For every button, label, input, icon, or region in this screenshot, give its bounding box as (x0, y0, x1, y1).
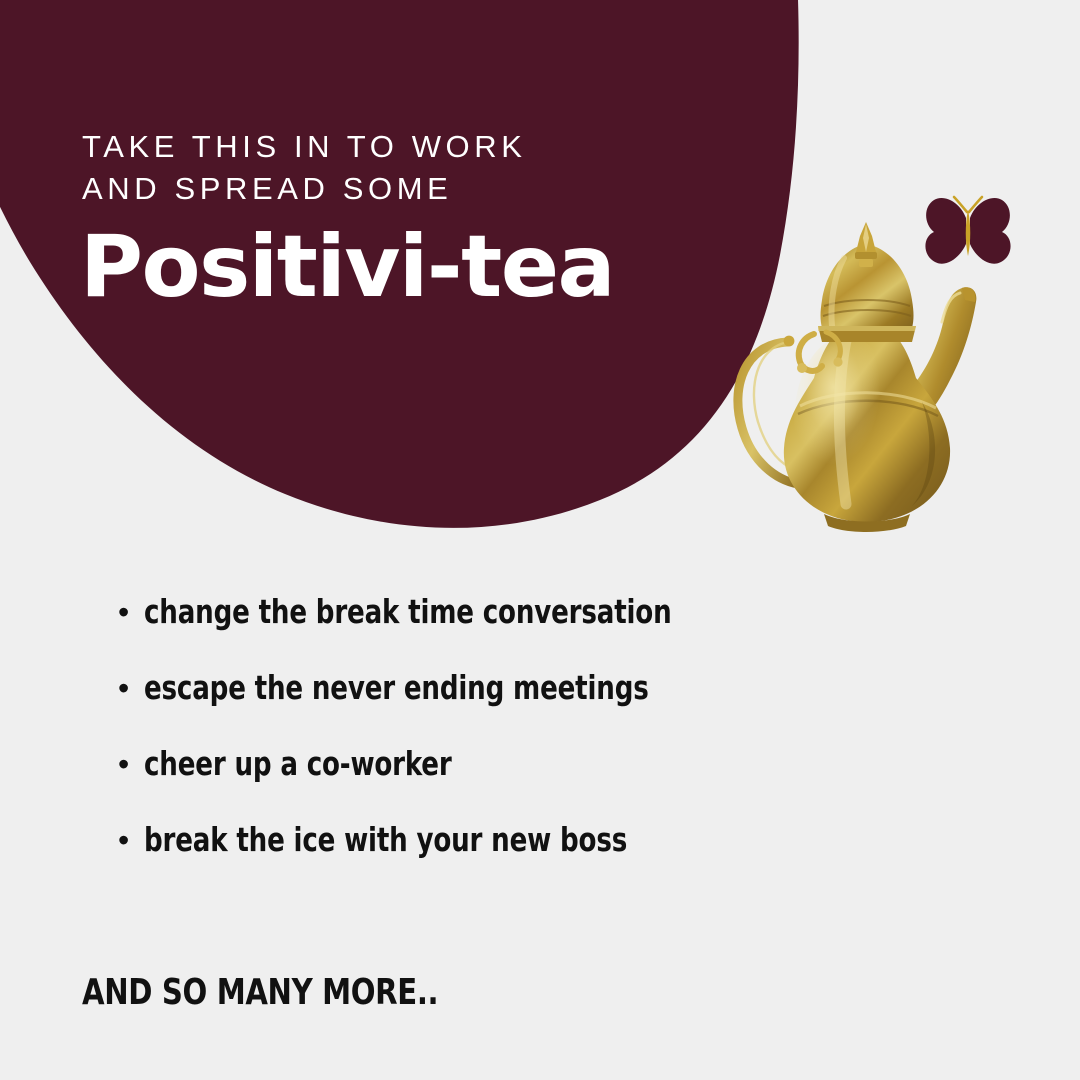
bullet-dot-icon: • (118, 672, 144, 704)
list-item: • break the ice with your new boss (118, 820, 938, 896)
footer-text: AND SO MANY MORE.. (82, 972, 438, 1013)
list-item: • escape the never ending meetings (118, 668, 938, 744)
list-item: • change the break time conversation (118, 592, 938, 668)
page-title: Positivi-tea (80, 217, 614, 317)
kicker-text: TAKE THIS IN TO WORK AND SPREAD SOME (82, 126, 702, 210)
list-item-label: escape the never ending meetings (144, 668, 649, 707)
butterfly-icon (922, 194, 1014, 272)
list-item-label: cheer up a co-worker (144, 744, 452, 783)
bullet-dot-icon: • (118, 596, 144, 628)
poster-canvas: TAKE THIS IN TO WORK AND SPREAD SOME Pos… (0, 0, 1080, 1080)
benefits-list: • change the break time conversation • e… (118, 592, 938, 896)
list-item-label: change the break time conversation (144, 592, 672, 631)
list-item: • cheer up a co-worker (118, 744, 938, 820)
bullet-dot-icon: • (118, 748, 144, 780)
bullet-dot-icon: • (118, 824, 144, 856)
list-item-label: break the ice with your new boss (144, 820, 627, 859)
